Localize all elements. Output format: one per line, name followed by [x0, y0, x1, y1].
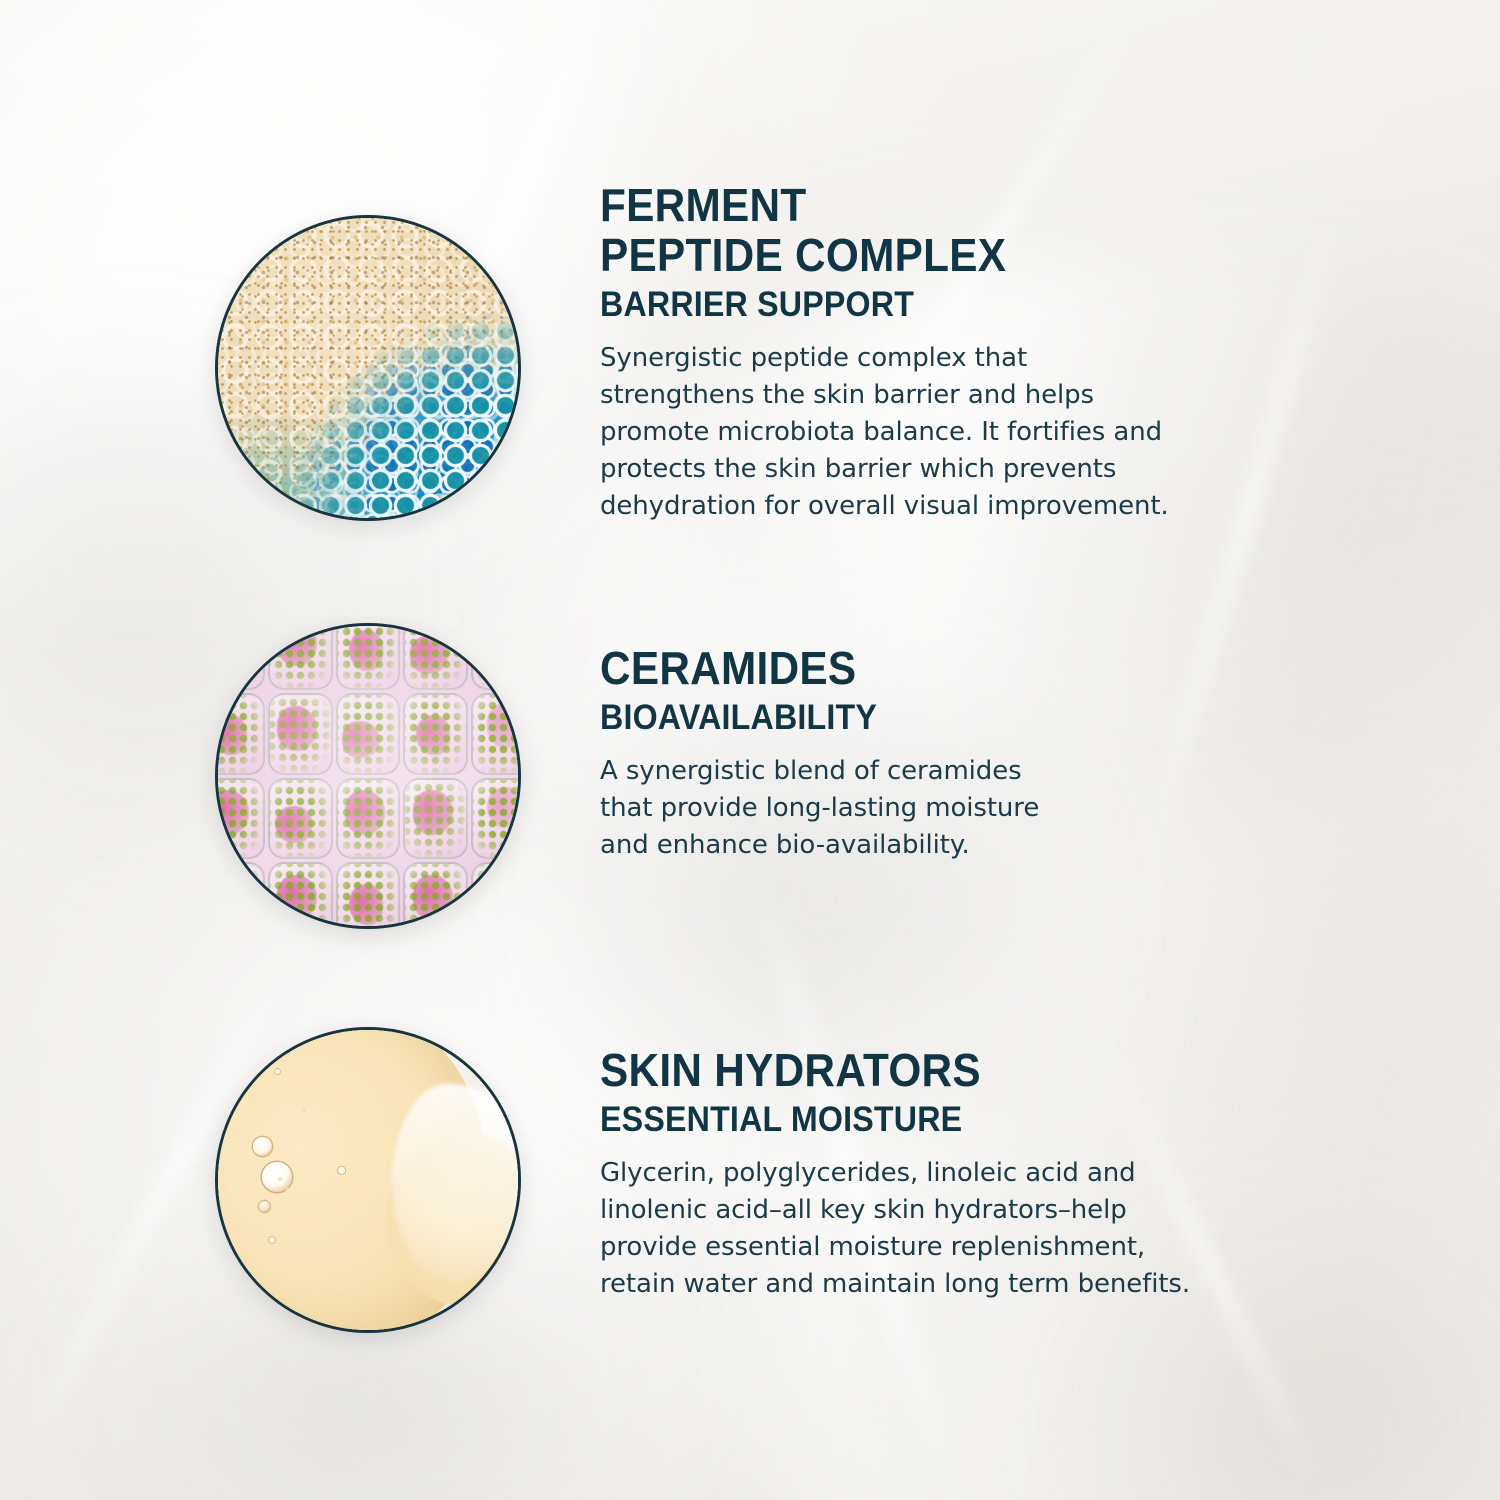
ingredient-title: CERAMIDES: [600, 643, 1262, 693]
air-bubble: [275, 1069, 280, 1074]
infographic-canvas: FERMENT PEPTIDE COMPLEX BARRIER SUPPORT …: [0, 0, 1500, 1500]
ingredient-subtitle: BIOAVAILABILITY: [600, 697, 1262, 739]
amber-edge-glow: [430, 490, 500, 521]
blue-cell-honeycomb-layer: [218, 218, 518, 518]
air-bubble: [253, 1137, 272, 1156]
cell-highlight-glow: [218, 626, 518, 926]
ingredient-text-block: FERMENT PEPTIDE COMPLEX BARRIER SUPPORT …: [600, 180, 1320, 525]
air-bubble: [338, 1167, 345, 1174]
air-bubble: [286, 1188, 290, 1192]
ingredient-title: FERMENT PEPTIDE COMPLEX: [600, 180, 1262, 280]
ingredient-description: A synergistic blend of ceramides that pr…: [600, 753, 1320, 864]
ferment-peptide-microscopy-swatch: [215, 215, 521, 521]
ingredient-text-block: SKIN HYDRATORS ESSENTIAL MOISTURE Glycer…: [600, 1045, 1320, 1303]
oil-droplet-highlight: [392, 1084, 521, 1282]
microscopy-image: [218, 218, 518, 518]
ingredient-text-block: CERAMIDES BIOAVAILABILITY A synergistic …: [600, 643, 1320, 864]
ingredient-subtitle: ESSENTIAL MOISTURE: [600, 1099, 1262, 1141]
ingredient-title: SKIN HYDRATORS: [600, 1045, 1262, 1095]
oil-droplet-image: [218, 1030, 518, 1330]
microscopy-image: [218, 626, 518, 926]
ingredient-subtitle: BARRIER SUPPORT: [600, 284, 1262, 326]
air-bubble: [302, 1108, 306, 1112]
ingredient-description: Synergistic peptide complex that strengt…: [600, 340, 1320, 525]
air-bubble: [269, 1237, 275, 1243]
ingredient-description: Glycerin, polyglycerides, linoleic acid …: [600, 1155, 1320, 1303]
air-bubble: [259, 1201, 270, 1212]
air-bubble: [278, 1177, 282, 1181]
skin-hydrators-oil-droplet-swatch: [215, 1027, 521, 1333]
ceramides-plant-cell-swatch: [215, 623, 521, 929]
